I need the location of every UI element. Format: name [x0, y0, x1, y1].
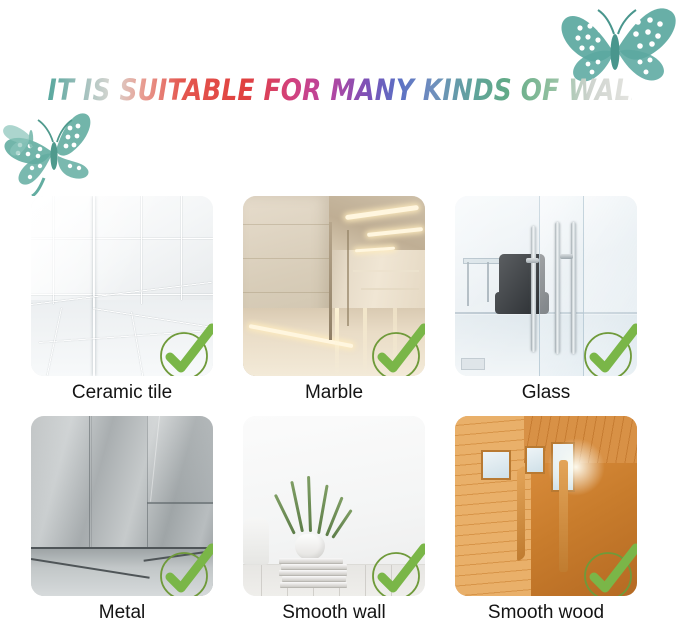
surface-photo-smooth-wood	[455, 416, 637, 596]
surface-label-marble: Marble	[243, 378, 425, 408]
surface-row-2: Metal	[0, 416, 679, 636]
surface-card-marble[interactable]: Marble	[243, 196, 425, 408]
page-title: IT IS SUITABLE FOR MANY KINDS OF WALLS	[48, 74, 632, 107]
surface-card-metal[interactable]: Metal	[31, 416, 213, 628]
surface-row-1: Ceramic tile	[0, 196, 679, 416]
check-badge-metal	[155, 542, 213, 596]
butterfly-left-small-icon	[0, 110, 60, 162]
surface-card-ceramic-tile[interactable]: Ceramic tile	[31, 196, 213, 408]
surface-card-smooth-wall[interactable]: Smooth wall	[243, 416, 425, 628]
surface-label-glass: Glass	[455, 378, 637, 408]
surface-card-glass[interactable]: Glass	[455, 196, 637, 408]
check-badge-smooth-wall	[367, 542, 425, 596]
surface-grid: Ceramic tile	[0, 196, 679, 636]
check-badge-marble	[367, 322, 425, 376]
surface-photo-smooth-wall	[243, 416, 425, 596]
surface-card-smooth-wood[interactable]: Smooth wood	[455, 416, 637, 628]
surface-photo-metal	[31, 416, 213, 596]
surface-photo-marble	[243, 196, 425, 376]
surface-label-smooth-wall: Smooth wall	[243, 598, 425, 628]
check-badge-ceramic-tile	[155, 322, 213, 376]
check-badge-smooth-wood	[579, 542, 637, 596]
check-badge-glass	[579, 322, 637, 376]
surface-photo-ceramic-tile	[31, 196, 213, 376]
butterfly-left-icon	[0, 104, 116, 196]
surface-label-ceramic-tile: Ceramic tile	[31, 378, 213, 408]
surface-label-metal: Metal	[31, 598, 213, 628]
surface-photo-glass	[455, 196, 637, 376]
surface-label-smooth-wood: Smooth wood	[455, 598, 637, 628]
